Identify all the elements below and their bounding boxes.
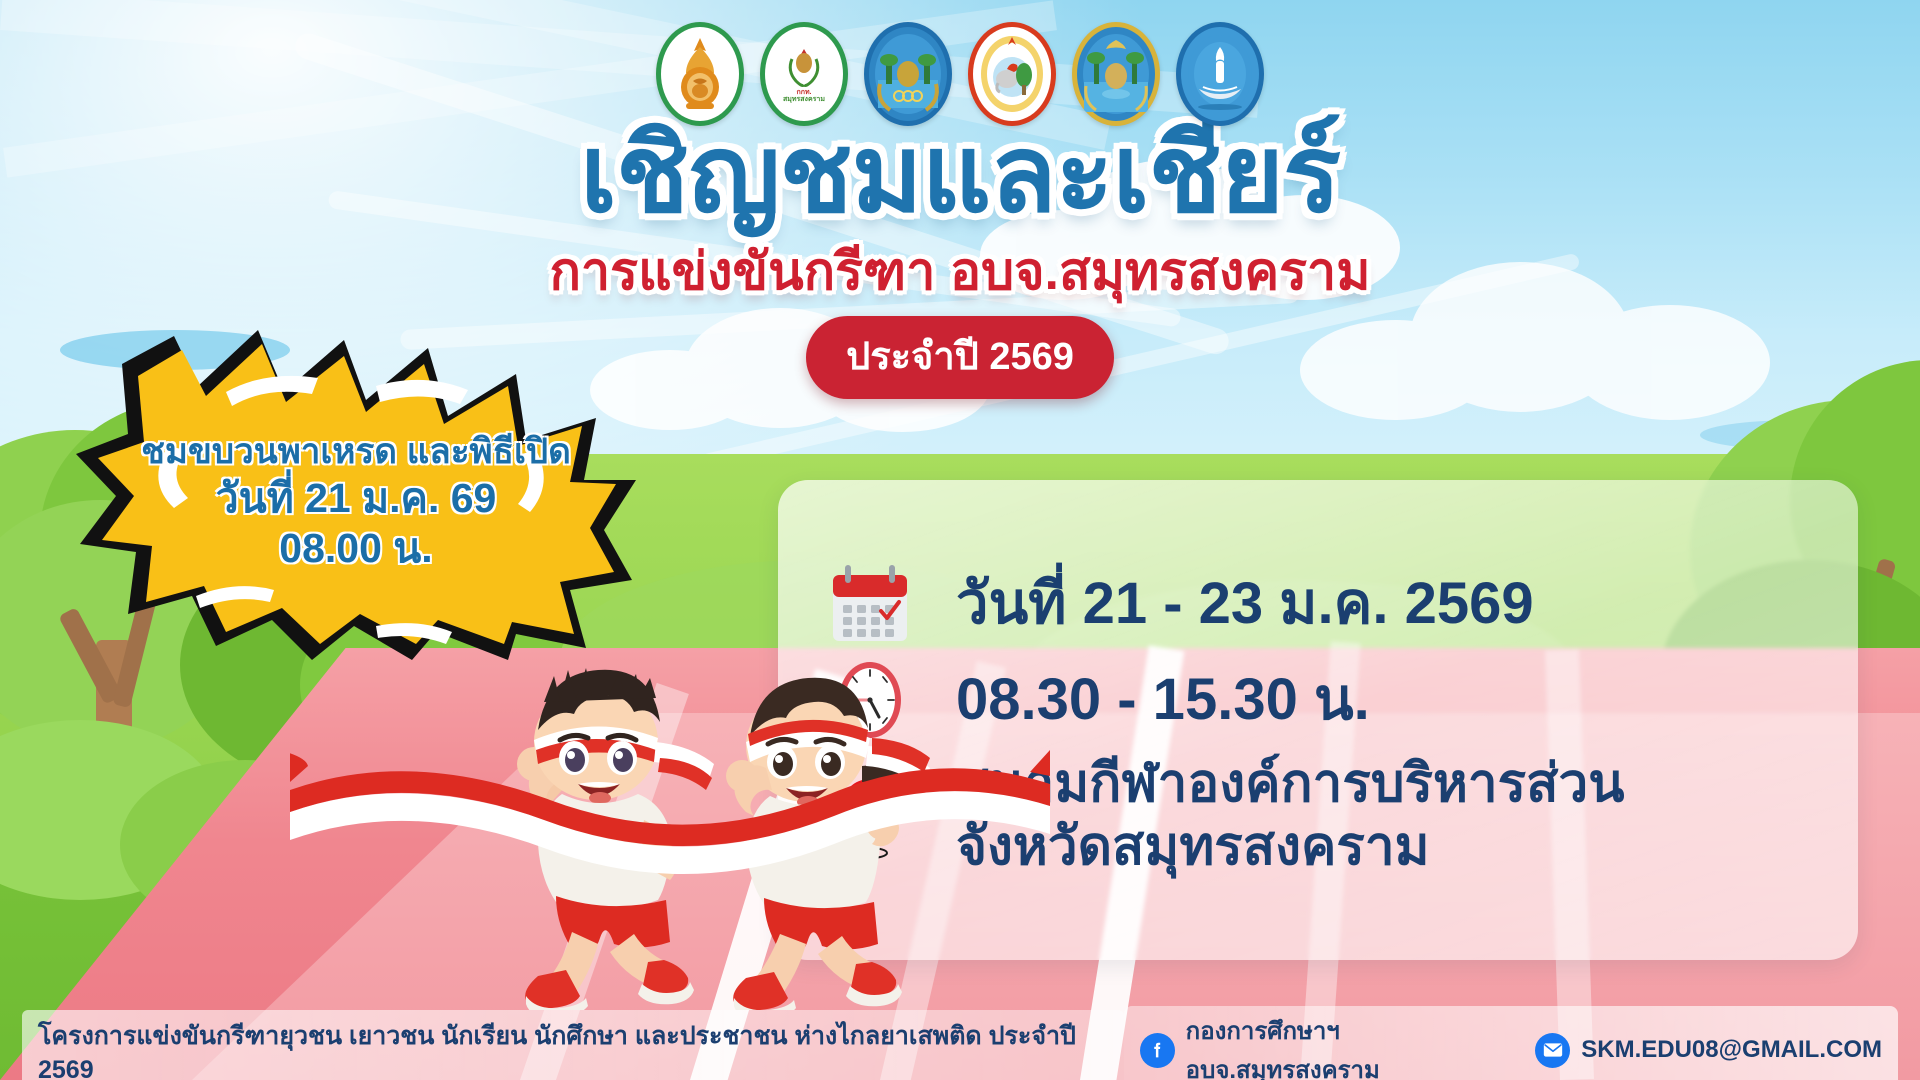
email-contact[interactable]: SKM.EDU08@GMAIL.COM: [1535, 1033, 1882, 1068]
sports-association-glyph: [872, 30, 944, 118]
provincial-sports-logo: กกท. สมุทรสงคราม: [760, 22, 848, 126]
samut-songkhram-province-logo: [1072, 22, 1160, 126]
royal-emblem-glyph: [674, 35, 726, 113]
garuda-wreath-glyph: [784, 45, 824, 89]
headline-block: เชิญชมและเชียร์ การแข่งขันกรีฑา อบจ.สมุท…: [0, 120, 1920, 399]
poster-footer: โครงการแข่งขันกรีฑายุวชน เยาวชน นักเรียน…: [0, 1020, 1920, 1080]
finish-ribbon: [290, 720, 1050, 900]
burst-line-1: ชมขบวนพาเหรด และพิธีเปิด: [141, 434, 571, 471]
email-label: SKM.EDU08@GMAIL.COM: [1581, 1036, 1882, 1064]
event-poster: กกท. สมุทรสงคราม: [0, 0, 1920, 1080]
provincial-sports-association-logo: [864, 22, 952, 126]
year-badge: ประจำปี 2569: [806, 316, 1114, 399]
facebook-contact[interactable]: กองการศึกษาฯ อบจ.สมุทรสงคราม: [1140, 1011, 1520, 1080]
pbo-samut-songkhram-logo: [968, 22, 1056, 126]
burst-line-2: วันที่ 21 ม.ค. 69: [216, 477, 497, 520]
royal-emblem-logo: [656, 22, 744, 126]
venue-line-1: สนามกีฬาองค์การบริหารส่วน: [956, 753, 1624, 816]
pbo-elephant-glyph: [977, 31, 1047, 117]
poster-headline: เชิญชมและเชียร์: [580, 120, 1340, 228]
poster-subheadline: การแข่งขันกรีฑา อบจ.สมุทรสงคราม: [549, 246, 1370, 298]
email-icon: [1535, 1033, 1570, 1068]
info-row-date: วันที่ 21 - 23 ม.ค. 2569: [824, 561, 1818, 647]
ministry-seal-glyph: [1185, 31, 1255, 117]
event-venue-text: สนามกีฬาองค์การบริหารส่วน จังหวัดสมุทรสง…: [956, 753, 1624, 878]
ministry-tourism-sports-logo: [1176, 22, 1264, 126]
contact-bar: กองการศึกษาฯ อบจ.สมุทรสงคราม SKM.EDU08@G…: [1124, 1006, 1898, 1080]
venue-line-2: จังหวัดสมุทรสงคราม: [956, 816, 1624, 879]
burst-line-3: 08.00 น.: [279, 527, 432, 570]
facebook-label: กองการศึกษาฯ อบจ.สมุทรสงคราม: [1186, 1011, 1520, 1080]
facebook-icon: [1140, 1033, 1175, 1068]
province-seal-glyph: [1080, 30, 1152, 118]
event-date-text: วันที่ 21 - 23 ม.ค. 2569: [956, 570, 1534, 638]
project-title-text: โครงการแข่งขันกรีฑายุวชน เยาวชน นักเรียน…: [22, 1010, 1124, 1080]
organization-logos-row: กกท. สมุทรสงคราม: [656, 22, 1264, 126]
